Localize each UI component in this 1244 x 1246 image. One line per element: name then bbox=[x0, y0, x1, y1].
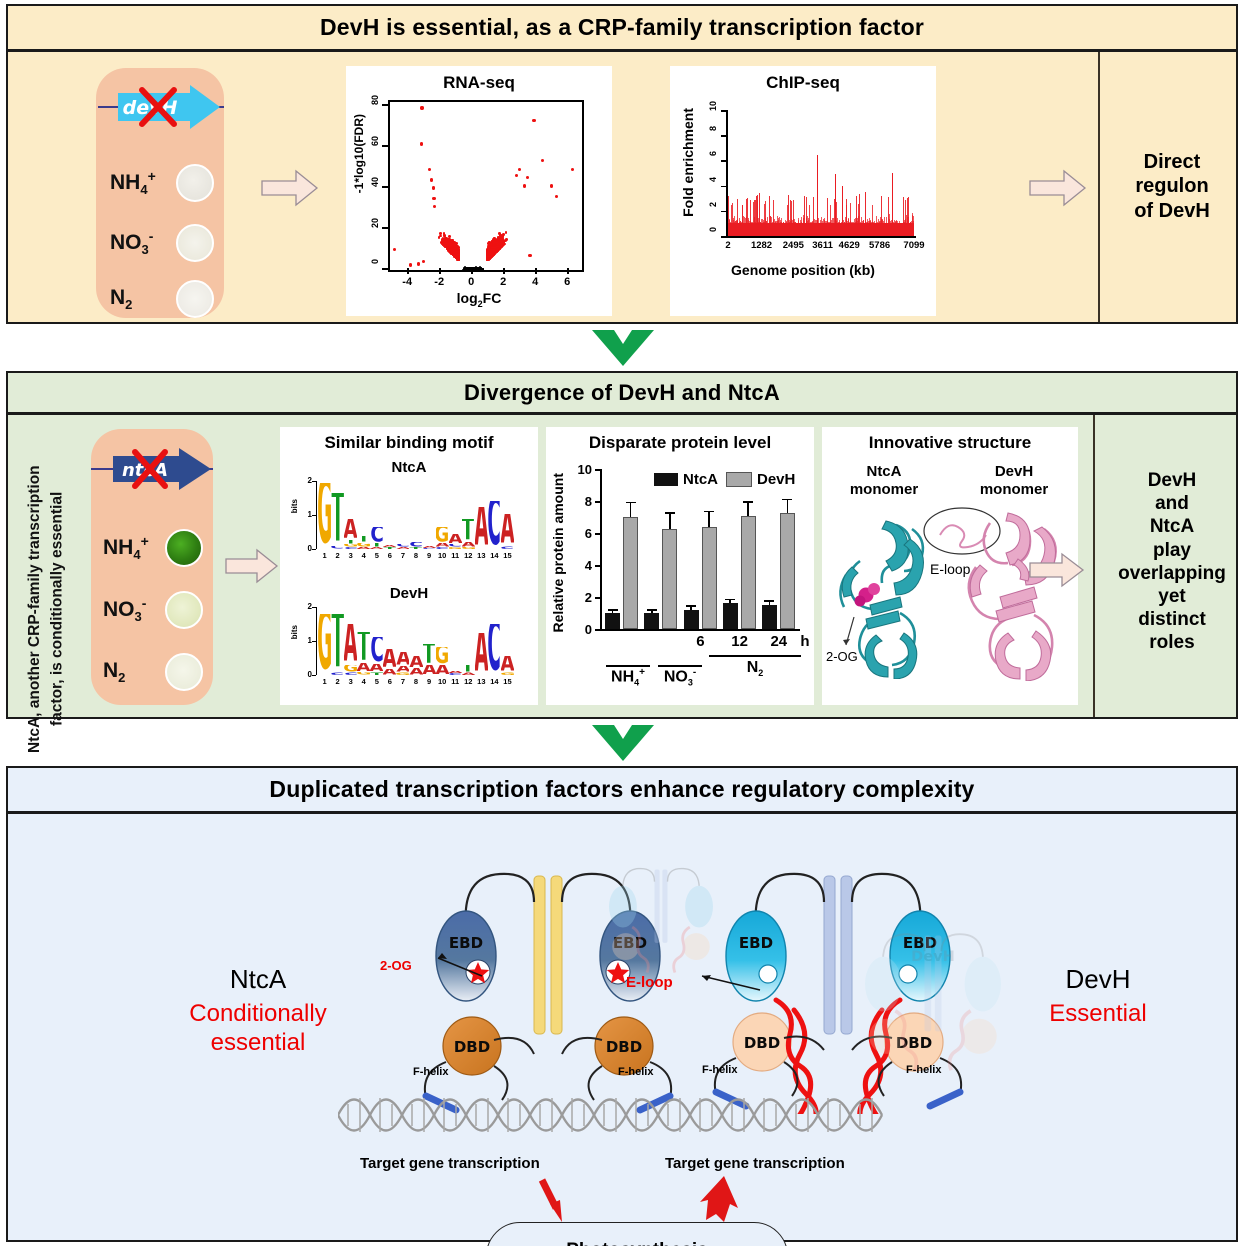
volcano-point bbox=[555, 195, 558, 198]
volcano-y-ticklabel: 40 bbox=[370, 177, 382, 187]
colony-spot-ammonium bbox=[176, 164, 214, 202]
volcano-point bbox=[430, 178, 433, 181]
nutrient-row-ammonium: NH4+ bbox=[110, 164, 214, 202]
volcano-plot-area bbox=[388, 100, 584, 272]
volcano-y-ticklabel: 60 bbox=[370, 136, 382, 146]
volcano-point bbox=[432, 197, 435, 200]
volcano-point bbox=[417, 262, 420, 265]
volcano-point bbox=[528, 254, 531, 257]
panel-devh-essential: DevH is essential, as a CRP-family trans… bbox=[6, 4, 1238, 324]
chip-seq-title: ChIP-seq bbox=[670, 73, 936, 93]
volcano-point bbox=[515, 174, 518, 177]
volcano-point bbox=[393, 248, 396, 251]
nutrient-label-nitrate: NO3- bbox=[110, 228, 153, 257]
volcano-point bbox=[420, 106, 423, 109]
volcano-y-tick bbox=[382, 104, 388, 106]
volcano-point bbox=[505, 238, 508, 241]
volcano-y-axis-title: -1*log10(FDR) bbox=[352, 114, 366, 193]
volcano-point bbox=[481, 268, 483, 270]
volcano-y-ticklabel: 20 bbox=[370, 218, 382, 228]
volcano-point bbox=[453, 243, 456, 246]
volcano-x-tick bbox=[567, 268, 569, 274]
volcano-point bbox=[499, 246, 502, 249]
volcano-point bbox=[550, 184, 553, 187]
volcano-point bbox=[501, 237, 504, 240]
volcano-point bbox=[571, 168, 574, 171]
volcano-point bbox=[505, 231, 508, 234]
chip-y-axis-title: Fold enrichment bbox=[680, 108, 696, 217]
volcano-point bbox=[473, 269, 475, 271]
card-chip-seq: ChIP-seq Fold enrichment 0246810 2128224… bbox=[670, 66, 936, 316]
volcano-y-tick bbox=[382, 145, 388, 147]
infographic-root: DevH is essential, as a CRP-family trans… bbox=[0, 0, 1244, 1246]
rna-seq-title: RNA-seq bbox=[346, 73, 612, 93]
nutrient-label-dinitrogen: N2 bbox=[110, 286, 132, 312]
volcano-x-tick bbox=[407, 268, 409, 274]
volcano-y-ticklabel: 0 bbox=[370, 259, 382, 264]
volcano-point bbox=[428, 168, 431, 171]
volcano-point bbox=[487, 258, 490, 261]
card-rna-seq: RNA-seq -1*log10(FDR) log2FC 020406080 -… bbox=[346, 66, 612, 316]
volcano-point bbox=[496, 245, 499, 248]
volcano-point bbox=[493, 251, 496, 254]
volcano-point bbox=[455, 245, 458, 248]
volcano-point bbox=[532, 119, 535, 122]
volcano-point bbox=[433, 205, 436, 208]
volcano-x-ticklabel: 6 bbox=[558, 276, 576, 288]
volcano-point bbox=[432, 186, 435, 189]
volcano-x-tick bbox=[535, 268, 537, 274]
volcano-point bbox=[441, 238, 444, 241]
volcano-point bbox=[456, 250, 459, 253]
volcano-point bbox=[541, 159, 544, 162]
volcano-y-tick bbox=[382, 268, 388, 270]
volcano-point bbox=[450, 252, 453, 255]
volcano-point bbox=[495, 241, 498, 244]
chip-track-area bbox=[728, 110, 914, 236]
volcano-point bbox=[409, 263, 412, 266]
panel-top-title: DevH is essential, as a CRP-family trans… bbox=[320, 14, 924, 41]
panel-top-header: DevH is essential, as a CRP-family trans… bbox=[8, 6, 1236, 52]
nutrient-row-nitrate: NO3- bbox=[110, 224, 214, 262]
volcano-point bbox=[518, 168, 521, 171]
colony-spot-dinitrogen bbox=[176, 280, 214, 318]
volcano-point bbox=[467, 268, 469, 270]
volcano-x-ticklabel: 0 bbox=[462, 276, 480, 288]
volcano-x-ticklabel: 4 bbox=[526, 276, 544, 288]
volcano-x-tick bbox=[471, 268, 473, 274]
volcano-point bbox=[523, 184, 526, 187]
volcano-x-ticklabel: 2 bbox=[494, 276, 512, 288]
volcano-y-tick bbox=[382, 227, 388, 229]
volcano-point bbox=[439, 232, 442, 235]
devh-mutant-capsule: devH NH4+ NO3- N2 bbox=[96, 68, 224, 318]
volcano-x-tick bbox=[503, 268, 505, 274]
volcano-point bbox=[501, 240, 504, 243]
volcano-point bbox=[448, 235, 451, 238]
volcano-point bbox=[457, 253, 460, 256]
volcano-point bbox=[438, 236, 441, 239]
volcano-x-axis-title: log2FC bbox=[346, 290, 612, 309]
panel-top-body: devH NH4+ NO3- N2 bbox=[8, 52, 1236, 322]
colony-spot-nitrate bbox=[176, 224, 214, 262]
devh-gene-arrow-icon: devH bbox=[94, 82, 228, 132]
volcano-point bbox=[422, 260, 425, 263]
volcano-x-ticklabel: -4 bbox=[398, 276, 416, 288]
flow-arrow-top-1-icon bbox=[260, 168, 320, 208]
volcano-point bbox=[446, 244, 449, 247]
volcano-y-tick bbox=[382, 186, 388, 188]
volcano-point bbox=[490, 255, 493, 258]
nutrient-label-ammonium: NH4+ bbox=[110, 168, 156, 197]
volcano-x-tick bbox=[439, 268, 441, 274]
volcano-point bbox=[526, 176, 529, 179]
volcano-y-ticklabel: 80 bbox=[370, 95, 382, 105]
volcano-x-ticklabel: -2 bbox=[430, 276, 448, 288]
nutrient-row-dinitrogen: N2 bbox=[110, 280, 214, 318]
volcano-point bbox=[420, 142, 423, 145]
